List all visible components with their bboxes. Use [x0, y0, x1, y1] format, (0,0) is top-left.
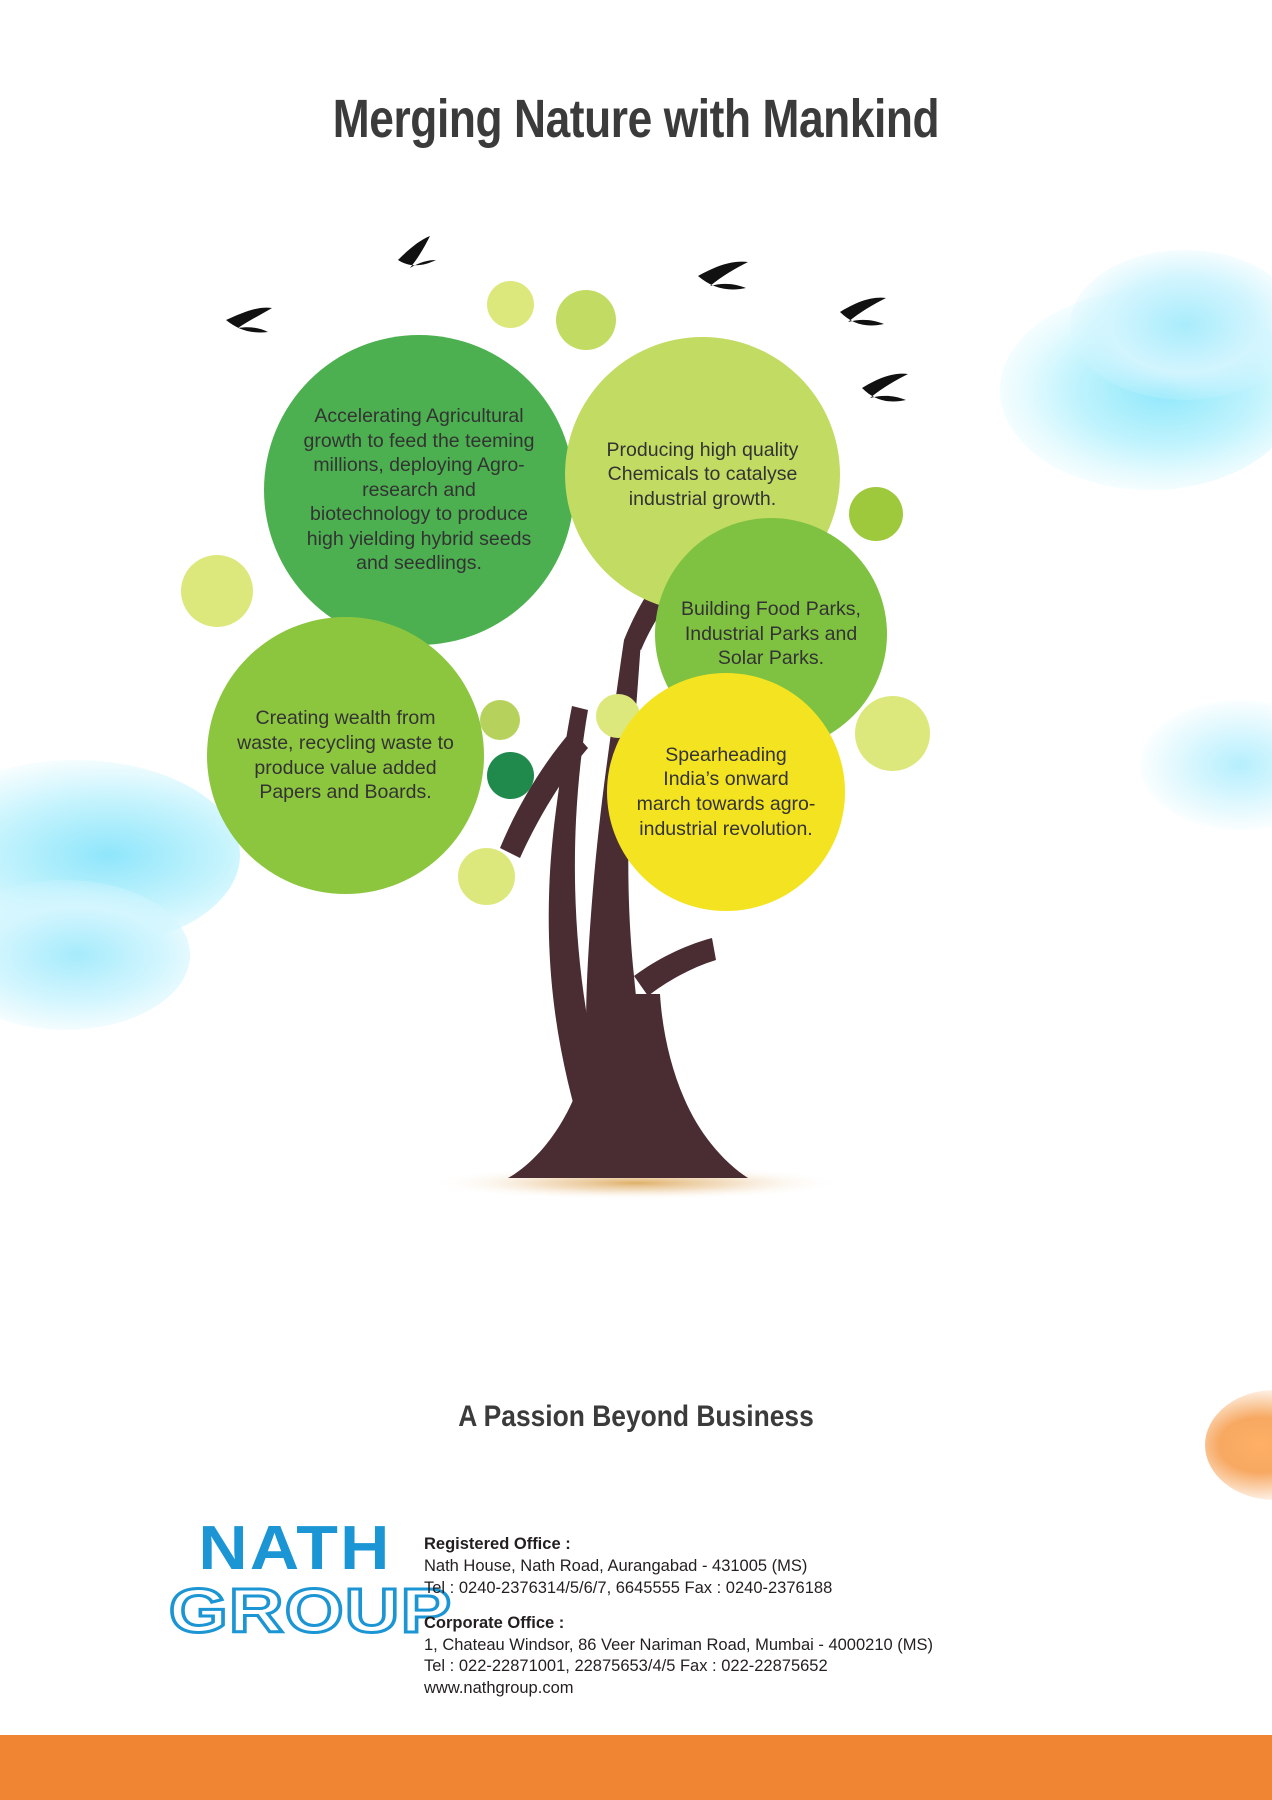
registered-office-heading: Registered Office :	[424, 1535, 1044, 1554]
registered-office-phone: Tel : 0240-2376314/5/6/7, 6645555 Fax : …	[424, 1578, 1044, 1600]
bird-icon-right	[840, 298, 886, 326]
foliage-dot-7	[487, 752, 534, 799]
corporate-office-phone: Tel : 022-22871001, 22875653/4/5 Fax : 0…	[424, 1656, 1044, 1678]
bubble-paper-text: Creating wealth from waste, recycling wa…	[231, 706, 460, 804]
corporate-office-address: 1, Chateau Windsor, 86 Veer Nariman Road…	[424, 1635, 1044, 1657]
nath-group-logo: NATH GROUP	[152, 1520, 412, 1690]
bird-icon-left	[226, 308, 272, 333]
foliage-dot-6	[480, 700, 520, 740]
branch-lower-right	[634, 938, 716, 996]
tagline: A Passion Beyond Business	[76, 1400, 1195, 1434]
bubble-revolution-text: Spearheading India’s onward march toward…	[635, 743, 817, 841]
bubble-revolution: Spearheading India’s onward march toward…	[607, 673, 845, 911]
logo-wordmark-group: GROUP	[152, 1583, 469, 1642]
warm-glow-right-bottom	[1205, 1390, 1272, 1500]
logo-wordmark-nath: NATH	[152, 1520, 438, 1579]
bubble-parks-text: Building Food Parks, Industrial Parks an…	[679, 597, 863, 671]
page-title: Merging Nature with Mankind	[114, 88, 1157, 150]
foliage-dot-2	[556, 290, 616, 350]
bubble-chemicals-text: Producing high quality Chemicals to cata…	[593, 438, 812, 512]
bubble-agriculture-text: Accelerating Agricultural growth to feed…	[300, 404, 538, 576]
contact-spacer	[424, 1600, 1044, 1614]
registered-office-address: Nath House, Nath Road, Aurangabad - 4310…	[424, 1556, 1044, 1578]
trunk-base-flare	[508, 994, 748, 1178]
bird-icon-right-lower	[862, 374, 908, 402]
foliage-dot-9	[458, 848, 515, 905]
footer-bar	[0, 1735, 1272, 1800]
contact-details: Registered Office : Nath House, Nath Roa…	[424, 1535, 1044, 1700]
foliage-dot-1	[487, 281, 534, 328]
bird-icon-center	[698, 262, 748, 290]
foliage-dot-5	[855, 696, 930, 771]
foliage-dot-4	[849, 487, 903, 541]
bubble-agriculture: Accelerating Agricultural growth to feed…	[264, 335, 574, 645]
foliage-dot-3	[181, 555, 253, 627]
corporate-office-heading: Corporate Office :	[424, 1614, 1044, 1633]
bird-icon-upper-left	[398, 236, 436, 268]
bubble-paper: Creating wealth from waste, recycling wa…	[207, 617, 484, 894]
website-link[interactable]: www.nathgroup.com	[424, 1678, 1044, 1700]
